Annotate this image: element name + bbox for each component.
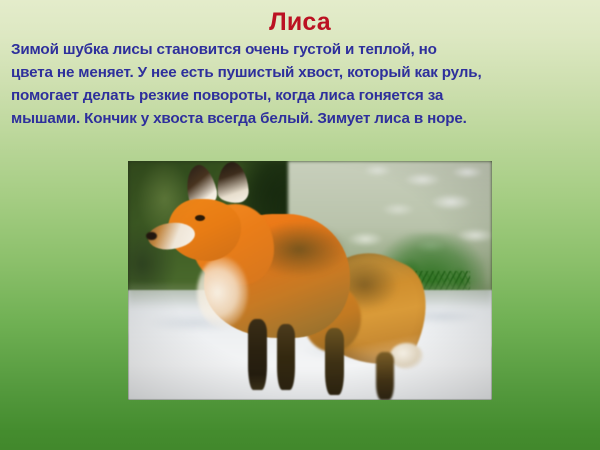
fox-hind-leg-far [376, 352, 394, 400]
slide-canvas: Лиса Зимой шубка лисы становится очень г… [0, 0, 600, 450]
red-fox [128, 161, 492, 400]
fox-front-leg-far [277, 324, 295, 391]
fox-photo [128, 161, 492, 400]
fox-chest-white [197, 257, 248, 329]
fox-front-leg-near [248, 319, 267, 391]
body-text-line-3: помогает делать резкие повороты, когда л… [11, 84, 593, 107]
fox-tail-white-tip [390, 343, 423, 369]
body-text: Зимой шубка лисы становится очень густой… [11, 38, 593, 130]
fox-eye [195, 215, 204, 221]
fox-photo-scene [128, 161, 492, 400]
fox-ear-right [216, 161, 250, 204]
body-text-line-4: мышами. Кончик у хвоста всегда белый. Зи… [11, 107, 593, 130]
page-title: Лиса [0, 8, 600, 36]
body-text-line-2: цвета не меняет. У нее есть пушистый хво… [11, 61, 593, 84]
fox-nose [146, 232, 157, 241]
fox-hind-leg-near [325, 328, 345, 395]
body-text-line-1: Зимой шубка лисы становится очень густой… [11, 38, 593, 61]
